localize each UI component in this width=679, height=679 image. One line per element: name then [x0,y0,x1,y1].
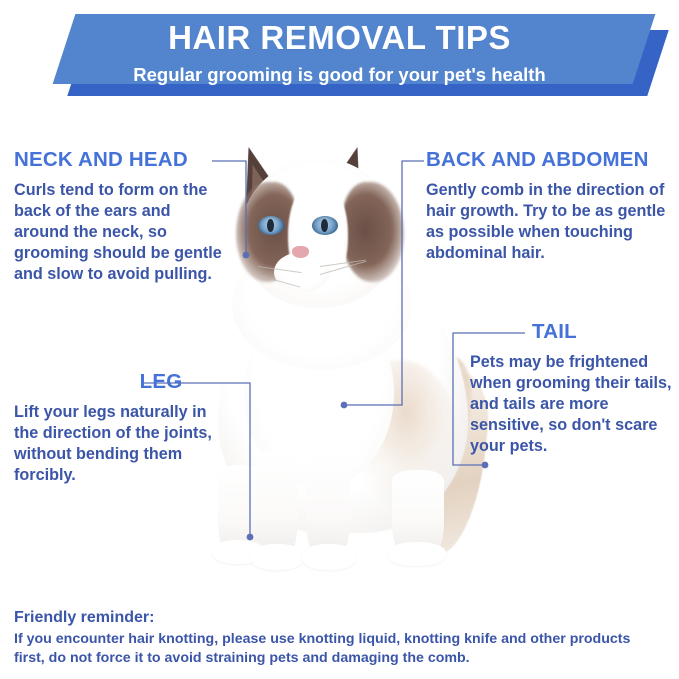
banner-main-layer [53,14,656,84]
tip-body-tail: Pets may be frightened when grooming the… [470,352,675,457]
header-banner: HAIR REMOVAL TIPS Regular grooming is go… [0,14,679,96]
cat-paw-front-right [302,544,356,570]
tip-body-leg: Lift your legs naturally in the directio… [14,402,229,486]
cat-muzzle [274,252,330,292]
tip-heading-leg: LEG [76,372,246,393]
tip-heading-back-and-abdomen: BACK AND ABDOMEN [426,150,676,171]
infographic-root: HAIR REMOVAL TIPS Regular grooming is go… [0,0,679,679]
tip-heading-neck-and-head: NECK AND HEAD [14,150,229,171]
tip-block-leg: LEG Lift your legs naturally in the dire… [14,372,229,486]
tip-block-back-and-abdomen: BACK AND ABDOMEN Gently comb in the dire… [426,150,676,264]
cat-right-cheek-point [342,182,404,282]
tip-block-tail: TAIL Pets may be frightened when groomin… [470,322,675,457]
cat-paw-back-right [388,542,446,566]
tip-body-back-and-abdomen: Gently comb in the direction of hair gro… [426,180,676,264]
cat-paw-front-left [250,544,304,570]
footer-title: Friendly reminder: [14,608,664,628]
tip-body-neck-and-head: Curls tend to form on the back of the ea… [14,180,229,285]
tip-block-neck-and-head: NECK AND HEAD Curls tend to form on the … [14,150,229,285]
cat-right-pupil [321,219,328,232]
cat-nose [292,246,309,258]
footer-body: If you encounter hair knotting, please u… [14,630,664,667]
tip-heading-tail: TAIL [532,322,675,343]
cat-left-pupil [267,219,274,232]
cat-right-eye [312,216,338,235]
cat-left-eye [258,216,284,235]
footer-note: Friendly reminder: If you encounter hair… [14,608,664,667]
